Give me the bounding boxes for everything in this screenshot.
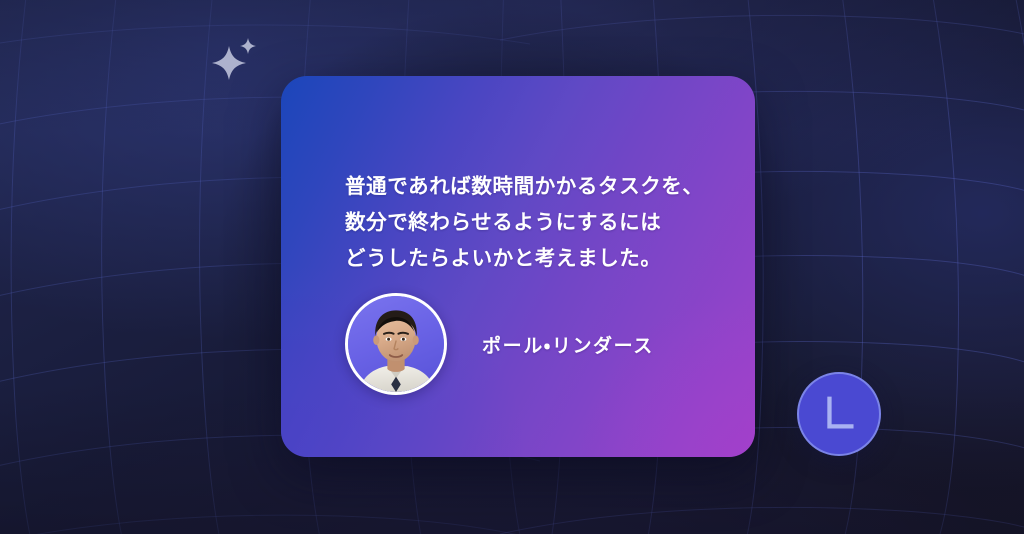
corner-badge <box>797 372 881 456</box>
author-name: ポール・リンダース <box>482 331 654 358</box>
quote-text: 普通であれば数時間かかるタスクを、 数分で終わらせるようにするには どうしたらよ… <box>345 168 755 276</box>
quote-slide: 普通であれば数時間かかるタスクを、 数分で終わらせるようにするには どうしたらよ… <box>0 0 1024 534</box>
l-glyph-icon <box>799 374 879 454</box>
quote-card-content: 普通であれば数時間かかるタスクを、 数分で終わらせるようにするには どうしたらよ… <box>281 76 755 457</box>
sparkle-icon <box>212 46 246 80</box>
quote-card: 普通であれば数時間かかるタスクを、 数分で終わらせるようにするには どうしたらよ… <box>281 76 755 457</box>
avatar <box>345 293 447 395</box>
attribution: ポール・リンダース <box>345 293 654 395</box>
sparkle-icon <box>240 38 256 54</box>
